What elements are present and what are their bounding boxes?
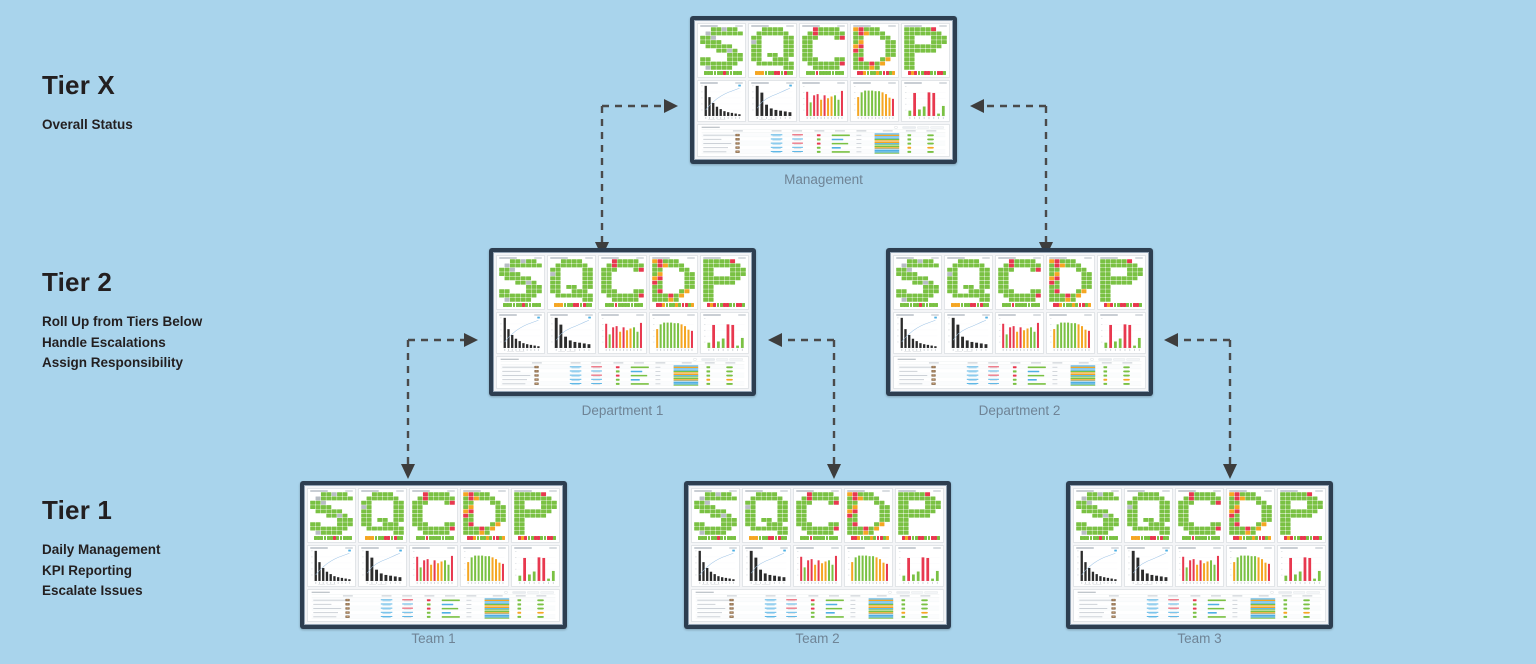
status-segment <box>477 536 480 540</box>
chart-panel-pareto-2[interactable] <box>547 312 596 355</box>
status-segment <box>912 536 915 540</box>
letter-tile-grid-q <box>745 492 788 535</box>
sqcdp-panel-q[interactable] <box>1124 488 1173 543</box>
sqcdp-letters-row <box>307 488 560 543</box>
status-segment <box>877 536 880 540</box>
dashboard-team-2[interactable] <box>684 481 951 629</box>
status-segment <box>883 71 886 75</box>
status-strip-p <box>518 536 556 540</box>
status-segment <box>739 71 742 75</box>
tier-label-tier-1: Tier 1 Daily Management KPI Reporting Es… <box>42 495 161 602</box>
sqcdp-panel-p[interactable] <box>1277 488 1326 543</box>
status-segment <box>729 303 732 307</box>
status-segment <box>775 536 778 540</box>
sqcdp-panel-d[interactable] <box>649 255 698 310</box>
action-item-table[interactable] <box>893 356 1146 389</box>
letter-tile-grid-q <box>550 259 593 302</box>
status-strip-s <box>1080 536 1118 540</box>
status-segment <box>1217 536 1220 540</box>
status-strip-p <box>1284 536 1322 540</box>
sqcdp-panel-s[interactable] <box>893 255 942 310</box>
status-segment <box>1115 536 1118 540</box>
status-segment <box>1208 536 1211 540</box>
chart-panel-kpi-bars-3[interactable] <box>1277 545 1326 588</box>
status-segment <box>733 303 736 307</box>
chart-plot-area <box>310 549 353 586</box>
status-segment <box>1037 303 1040 307</box>
letter-tile-grid-p <box>514 492 557 535</box>
status-strip-s <box>698 536 736 540</box>
sqcdp-panel-c[interactable] <box>793 488 842 543</box>
caption-department-2: Department 2 <box>886 403 1153 418</box>
chart-plot-area <box>1229 549 1272 586</box>
status-segment <box>1157 536 1160 540</box>
letter-tile-grid-s <box>896 259 939 302</box>
dashboard-management[interactable] <box>690 16 957 164</box>
status-segment <box>713 303 716 307</box>
status-segment <box>726 71 729 75</box>
status-segment <box>704 536 707 540</box>
chart-panel-kpi-bars-2[interactable] <box>1046 312 1095 355</box>
status-segment <box>387 536 390 540</box>
chart-panel-kpi-bars-3[interactable] <box>511 545 560 588</box>
status-segment <box>759 536 762 540</box>
status-segment <box>1204 536 1207 540</box>
chart-panel-kpi-bars-1[interactable] <box>995 312 1044 355</box>
chart-panel-kpi-bars-1[interactable] <box>799 80 848 123</box>
status-strip-c <box>800 536 838 540</box>
status-segment <box>513 303 516 307</box>
status-segment <box>371 536 374 540</box>
status-segment <box>1239 536 1242 540</box>
status-segment <box>540 536 543 540</box>
status-strip-q <box>749 536 787 540</box>
status-segment <box>493 536 496 540</box>
connector-department-1-to-team-1 <box>400 332 485 480</box>
chart-panel-kpi-bars-1[interactable] <box>1175 545 1224 588</box>
caption-management: Management <box>690 172 957 187</box>
chart-panel-pareto-1[interactable] <box>697 80 746 123</box>
status-segment <box>1102 536 1105 540</box>
action-item-table[interactable] <box>691 589 944 622</box>
chart-plot-area <box>463 549 506 586</box>
status-segment <box>879 71 882 75</box>
sqcdp-panel-d[interactable] <box>1226 488 1275 543</box>
status-segment <box>832 71 835 75</box>
letter-tile-grid-d <box>652 259 695 302</box>
dashboard-screen <box>304 485 563 625</box>
caption-team-3: Team 3 <box>1066 631 1333 646</box>
status-segment <box>489 536 492 540</box>
sqcdp-panel-p[interactable] <box>901 23 950 78</box>
chart-plot-area <box>796 549 839 586</box>
status-segment <box>841 71 844 75</box>
status-segment <box>324 536 327 540</box>
status-segment <box>1110 303 1113 307</box>
tier-desc-line: Assign Responsibility <box>42 353 202 374</box>
sqcdp-letters-row <box>1073 488 1326 543</box>
letter-tile-grid-p <box>904 27 947 70</box>
chart-panel-kpi-bars-3[interactable] <box>1097 312 1146 355</box>
status-segment <box>1059 303 1062 307</box>
status-segment <box>922 303 925 307</box>
sqcdp-panel-c[interactable] <box>409 488 458 543</box>
status-segment <box>765 71 768 75</box>
kpi-charts-row <box>1073 545 1326 588</box>
status-segment <box>1153 536 1156 540</box>
caption-department-1: Department 1 <box>489 403 756 418</box>
chart-panel-pareto-2[interactable] <box>1124 545 1173 588</box>
status-segment <box>906 303 909 307</box>
status-strip-d <box>656 303 694 307</box>
status-strip-c <box>605 303 643 307</box>
chart-plot-area <box>652 316 695 353</box>
status-segment <box>1319 536 1322 540</box>
status-segment <box>928 536 931 540</box>
chart-panel-pareto-1[interactable] <box>496 312 545 355</box>
status-segment <box>810 536 813 540</box>
chart-plot-area <box>514 549 557 586</box>
tier-desc-line: Overall Status <box>42 115 133 136</box>
sqcdp-panel-d[interactable] <box>844 488 893 543</box>
status-segment <box>442 536 445 540</box>
status-segment <box>1106 536 1109 540</box>
status-segment <box>1141 536 1144 540</box>
chart-panel-pareto-2[interactable] <box>944 312 993 355</box>
tier-title: Tier 1 <box>42 495 161 526</box>
sqcdp-panel-d[interactable] <box>850 23 899 78</box>
chart-panel-kpi-bars-1[interactable] <box>598 312 647 355</box>
status-strip-s <box>314 536 352 540</box>
status-segment <box>538 303 541 307</box>
letter-tile-grid-q <box>1127 492 1170 535</box>
letter-tile-grid-c <box>802 27 845 70</box>
sqcdp-panel-s[interactable] <box>697 23 746 78</box>
letter-tile-grid-c <box>601 259 644 302</box>
chart-plot-area <box>751 84 794 121</box>
sqcdp-letters-row <box>697 23 950 78</box>
sqcdp-panel-q[interactable] <box>742 488 791 543</box>
status-segment <box>473 536 476 540</box>
status-segment <box>662 303 665 307</box>
status-segment <box>957 303 960 307</box>
chart-panel-kpi-bars-1[interactable] <box>793 545 842 588</box>
status-segment <box>611 303 614 307</box>
status-strip-p <box>707 303 745 307</box>
status-segment <box>553 536 556 540</box>
letter-tile-grid-p <box>1280 492 1323 535</box>
sqcdp-panel-c[interactable] <box>1175 488 1224 543</box>
chart-plot-area <box>898 549 941 586</box>
status-strip-q <box>951 303 989 307</box>
sqcdp-panel-p[interactable] <box>511 488 560 543</box>
chart-panel-kpi-bars-2[interactable] <box>850 80 899 123</box>
action-item-table[interactable] <box>307 589 560 622</box>
chart-plot-area <box>700 84 743 121</box>
status-segment <box>1130 303 1133 307</box>
status-segment <box>857 536 860 540</box>
chart-panel-kpi-bars-3[interactable] <box>895 545 944 588</box>
status-segment <box>924 536 927 540</box>
status-segment <box>422 536 425 540</box>
status-segment <box>918 71 921 75</box>
connector-management-to-department-2 <box>962 98 1052 258</box>
chart-panel-kpi-bars-1[interactable] <box>409 545 458 588</box>
letter-tile-grid-q <box>361 492 404 535</box>
status-segment <box>986 303 989 307</box>
status-segment <box>1090 536 1093 540</box>
status-segment <box>451 536 454 540</box>
status-segment <box>867 71 870 75</box>
letter-tile-grid-s <box>1076 492 1119 535</box>
status-segment <box>961 303 964 307</box>
status-strip-p <box>908 71 946 75</box>
status-segment <box>1075 303 1078 307</box>
status-segment <box>943 71 946 75</box>
chart-panel-pareto-2[interactable] <box>742 545 791 588</box>
status-segment <box>937 536 940 540</box>
tier-desc-line: KPI Reporting <box>42 561 161 582</box>
chart-plot-area <box>499 316 542 353</box>
chart-panel-pareto-1[interactable] <box>307 545 356 588</box>
letter-tile-grid-s <box>700 27 743 70</box>
sqcdp-panel-p[interactable] <box>895 488 944 543</box>
letter-tile-grid-d <box>463 492 506 535</box>
status-strip-d <box>1053 303 1091 307</box>
connector-department-2-to-team-3 <box>1160 332 1245 480</box>
status-segment <box>682 303 685 307</box>
sqcdp-panel-q[interactable] <box>944 255 993 310</box>
status-segment <box>710 71 713 75</box>
chart-panel-kpi-bars-3[interactable] <box>901 80 950 123</box>
status-strip-s <box>503 303 541 307</box>
chart-plot-area <box>1280 549 1323 586</box>
connector-department-1-to-team-2 <box>762 332 847 480</box>
status-segment <box>761 71 764 75</box>
caption-team-2: Team 2 <box>684 631 951 646</box>
status-segment <box>742 303 745 307</box>
tier-label-tier-2: Tier 2 Roll Up from Tiers Below Handle E… <box>42 267 202 374</box>
status-segment <box>1114 303 1117 307</box>
chart-plot-area <box>412 549 455 586</box>
status-segment <box>678 303 681 307</box>
sqcdp-panel-s[interactable] <box>691 488 740 543</box>
status-segment <box>631 303 634 307</box>
sqcdp-panel-c[interactable] <box>598 255 647 310</box>
status-segment <box>1166 536 1169 540</box>
status-segment <box>320 536 323 540</box>
chart-panel-kpi-bars-2[interactable] <box>460 545 509 588</box>
status-segment <box>973 303 976 307</box>
chart-panel-kpi-bars-3[interactable] <box>700 312 749 355</box>
status-segment <box>863 71 866 75</box>
status-segment <box>1139 303 1142 307</box>
status-segment <box>1268 536 1271 540</box>
dashboard-screen <box>688 485 947 625</box>
action-item-table[interactable] <box>697 124 950 157</box>
status-segment <box>771 536 774 540</box>
status-segment <box>826 536 829 540</box>
status-strip-q <box>365 536 403 540</box>
status-segment <box>714 71 717 75</box>
status-segment <box>336 536 339 540</box>
status-segment <box>375 536 378 540</box>
chart-panel-kpi-bars-2[interactable] <box>649 312 698 355</box>
chart-plot-area <box>550 316 593 353</box>
status-segment <box>730 71 733 75</box>
kpi-charts-row <box>307 545 560 588</box>
letter-tile-grid-c <box>412 492 455 535</box>
sqcdp-panel-q[interactable] <box>748 23 797 78</box>
status-segment <box>908 536 911 540</box>
status-strip-c <box>806 71 844 75</box>
chart-plot-area <box>853 84 896 121</box>
sqcdp-letters-row <box>893 255 1146 310</box>
letter-tile-grid-s <box>694 492 737 535</box>
status-segment <box>438 536 441 540</box>
status-segment <box>426 536 429 540</box>
kpi-charts-row <box>691 545 944 588</box>
letter-tile-grid-p <box>703 259 746 302</box>
status-strip-d <box>857 71 895 75</box>
sqcdp-panel-d[interactable] <box>460 488 509 543</box>
status-segment <box>781 71 784 75</box>
tier-title: Tier X <box>42 70 133 101</box>
chart-plot-area <box>947 316 990 353</box>
status-segment <box>576 303 579 307</box>
sqcdp-panel-p[interactable] <box>1097 255 1146 310</box>
status-strip-c <box>1182 536 1220 540</box>
status-segment <box>524 536 527 540</box>
dashboard-department-2[interactable] <box>886 248 1153 396</box>
chart-plot-area <box>1178 549 1221 586</box>
chart-plot-area <box>998 316 1041 353</box>
letter-tile-grid-d <box>1049 259 1092 302</box>
status-segment <box>1012 303 1015 307</box>
chart-plot-area <box>1049 316 1092 353</box>
status-segment <box>816 71 819 75</box>
chart-plot-area <box>694 549 737 586</box>
sqcdp-panel-s[interactable] <box>307 488 356 543</box>
kpi-charts-row <box>697 80 950 123</box>
status-segment <box>861 536 864 540</box>
dashboard-team-1[interactable] <box>300 481 567 629</box>
sqcdp-panel-q[interactable] <box>358 488 407 543</box>
status-segment <box>828 71 831 75</box>
status-strip-d <box>1233 536 1271 540</box>
status-segment <box>560 303 563 307</box>
dashboard-screen <box>890 252 1149 392</box>
sqcdp-panel-p[interactable] <box>700 255 749 310</box>
letter-tile-grid-c <box>796 492 839 535</box>
status-segment <box>777 71 780 75</box>
status-segment <box>720 536 723 540</box>
status-segment <box>502 536 505 540</box>
sqcdp-panel-s[interactable] <box>1073 488 1122 543</box>
action-item-table[interactable] <box>496 356 749 389</box>
status-segment <box>615 303 618 307</box>
letter-tile-grid-s <box>499 259 542 302</box>
dashboard-team-3[interactable] <box>1066 481 1333 629</box>
status-strip-p <box>902 536 940 540</box>
dashboard-department-1[interactable] <box>489 248 756 396</box>
status-segment <box>930 71 933 75</box>
status-segment <box>835 536 838 540</box>
sqcdp-panel-d[interactable] <box>1046 255 1095 310</box>
status-strip-q <box>554 303 592 307</box>
dashboard-screen <box>1070 485 1329 625</box>
chart-panel-kpi-bars-2[interactable] <box>844 545 893 588</box>
status-segment <box>717 303 720 307</box>
chart-panel-pareto-2[interactable] <box>748 80 797 123</box>
status-strip-q <box>755 71 793 75</box>
sqcdp-panel-q[interactable] <box>547 255 596 310</box>
chart-panel-pareto-1[interactable] <box>893 312 942 355</box>
letter-tile-grid-s <box>310 492 353 535</box>
chart-plot-area <box>1127 549 1170 586</box>
status-strip-s <box>704 71 742 75</box>
status-segment <box>1255 536 1258 540</box>
chart-panel-pareto-2[interactable] <box>358 545 407 588</box>
status-segment <box>349 536 352 540</box>
chart-panel-pareto-1[interactable] <box>691 545 740 588</box>
status-segment <box>755 536 758 540</box>
status-segment <box>1079 303 1082 307</box>
status-segment <box>509 303 512 307</box>
letter-tile-grid-q <box>751 27 794 70</box>
chart-plot-area <box>802 84 845 121</box>
status-strip-d <box>467 536 505 540</box>
status-strip-d <box>851 536 889 540</box>
status-segment <box>977 303 980 307</box>
status-segment <box>340 536 343 540</box>
sqcdp-letters-row <box>496 255 749 310</box>
status-segment <box>886 536 889 540</box>
status-segment <box>733 536 736 540</box>
status-segment <box>914 71 917 75</box>
letter-tile-grid-p <box>898 492 941 535</box>
chart-plot-area <box>1076 549 1119 586</box>
connector-management-to-department-1 <box>596 98 686 258</box>
tier-title: Tier 2 <box>42 267 202 298</box>
tier-desc-line: Roll Up from Tiers Below <box>42 312 202 333</box>
sqcdp-panel-c[interactable] <box>995 255 1044 310</box>
sqcdp-panel-c[interactable] <box>799 23 848 78</box>
status-segment <box>391 536 394 540</box>
status-segment <box>1294 536 1297 540</box>
status-segment <box>400 536 403 540</box>
status-segment <box>926 303 929 307</box>
status-segment <box>589 303 592 307</box>
letter-tile-grid-c <box>1178 492 1221 535</box>
letter-tile-grid-d <box>853 27 896 70</box>
chart-plot-area <box>745 549 788 586</box>
action-item-table[interactable] <box>1073 589 1326 622</box>
status-segment <box>691 303 694 307</box>
status-strip-p <box>1104 303 1142 307</box>
chart-panel-pareto-1[interactable] <box>1073 545 1122 588</box>
status-segment <box>822 536 825 540</box>
chart-panel-kpi-bars-2[interactable] <box>1226 545 1275 588</box>
kpi-charts-row <box>496 312 749 355</box>
chart-plot-area <box>896 316 939 353</box>
letter-tile-grid-c <box>998 259 1041 302</box>
status-segment <box>544 536 547 540</box>
status-segment <box>1008 303 1011 307</box>
status-segment <box>784 536 787 540</box>
sqcdp-panel-s[interactable] <box>496 255 545 310</box>
status-segment <box>1259 536 1262 540</box>
